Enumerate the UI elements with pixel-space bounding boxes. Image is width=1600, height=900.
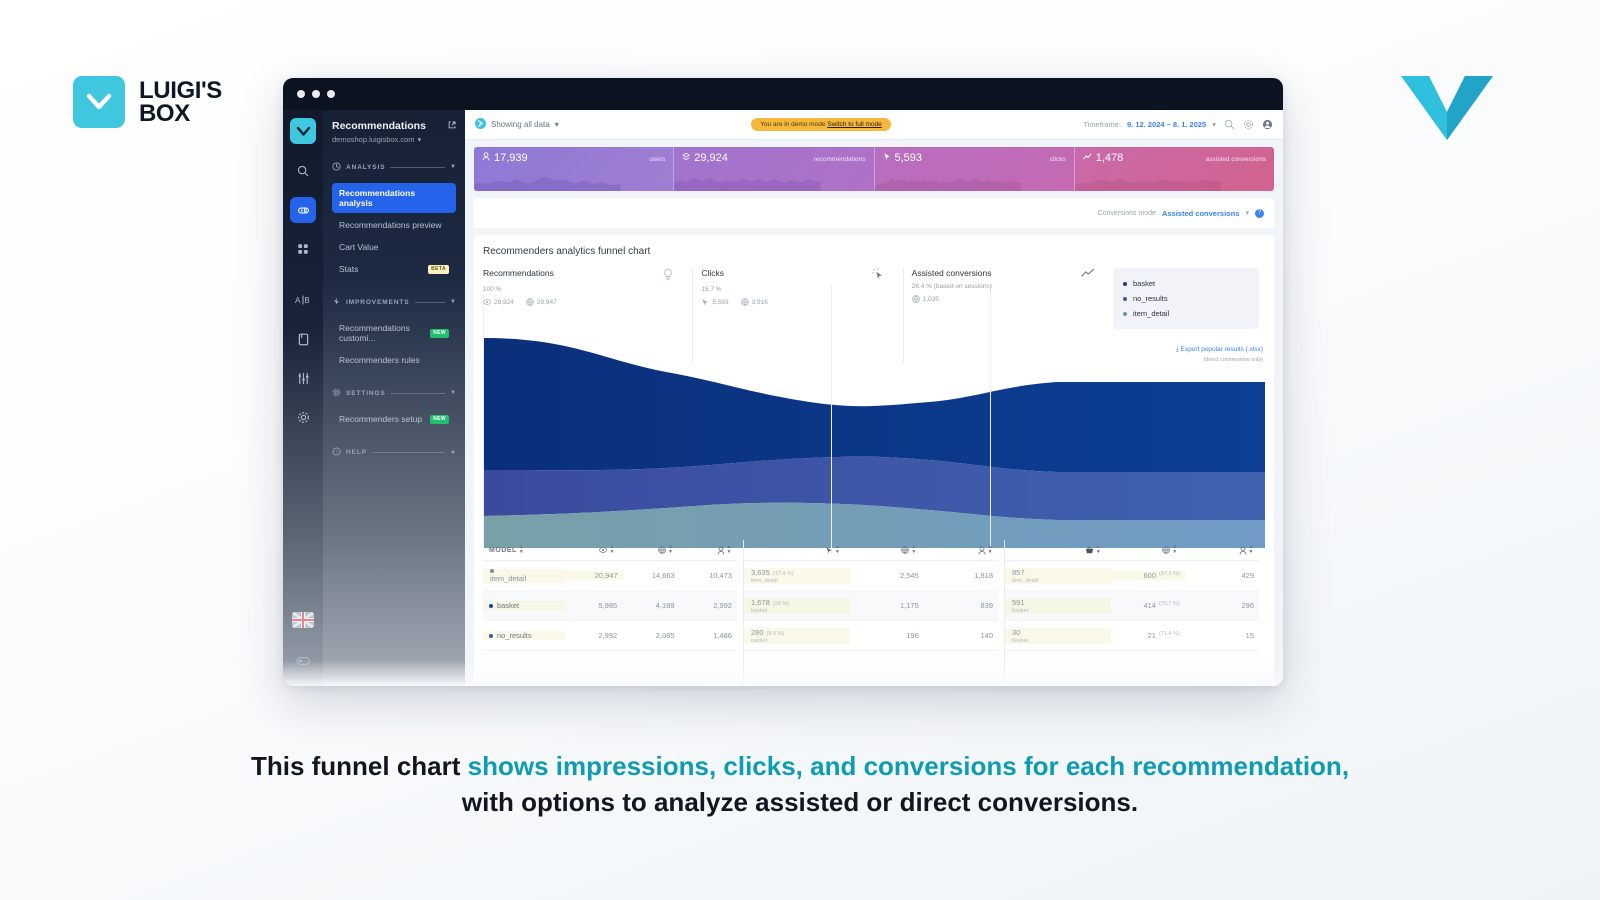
cell-sessions: 1,175 — [850, 601, 924, 610]
clicks-value: 3,635 — [751, 568, 770, 577]
sessions-percent: (70.7 %) — [1159, 601, 1180, 610]
export-label: Export popular results (.xlsx) — [1181, 346, 1263, 353]
table-header-row: MODEL ▲▼ ▲▼ ▲▼ — [483, 540, 737, 561]
main-content: Showing all data ▾ You are in demo mode … — [465, 110, 1283, 686]
legend-item-item-detail[interactable]: item_detail — [1123, 306, 1249, 321]
stage-stat-sessions: 3,916 — [741, 298, 768, 306]
switch-to-full-mode-link[interactable]: Switch to full mode — [827, 121, 882, 128]
table-row[interactable]: 30 basket 21(71.4 %) 15 — [1005, 621, 1259, 651]
sidebar-item-stats[interactable]: Stats BETA — [332, 259, 456, 279]
chevron-up-icon: ▲ — [450, 449, 456, 455]
ab-testing-icon[interactable]: AB — [290, 287, 316, 313]
sidebar-item-recommendations-analysis[interactable]: Recommendations analysis — [332, 183, 456, 213]
data-source-icon — [475, 118, 486, 131]
model-name: basket — [751, 638, 767, 644]
sparkline — [474, 169, 621, 191]
table-row[interactable]: item_detail 20,947 14,663 10,473 — [483, 561, 737, 591]
column-header-users[interactable]: ▲▼ — [1183, 545, 1259, 555]
user-icon — [717, 546, 725, 555]
gear-icon[interactable] — [1243, 119, 1254, 130]
status-badge: BETA — [428, 265, 449, 274]
status-badge: NEW — [430, 329, 449, 338]
rail-logo-icon[interactable] — [290, 118, 316, 144]
cell-sessions: 4,189 — [622, 601, 679, 610]
model-name: item_detail — [490, 574, 526, 583]
cursor-icon — [701, 298, 709, 306]
table-row[interactable]: 1,678(28 %) basket 1,175 839 — [744, 591, 998, 621]
kpi-assisted-conversions[interactable]: 1,478 assisted conversions — [1075, 147, 1274, 191]
stage-stat-sessions: 20,947 — [526, 298, 557, 306]
model-color-dot — [490, 569, 494, 573]
window-titlebar — [283, 78, 1283, 110]
menu-domain[interactable]: demoshop.luigisbox.com ▾ — [332, 135, 456, 144]
cell-users: 296 — [1185, 601, 1259, 610]
conversions-value: 30 — [1012, 628, 1020, 637]
showing-all-data-selector[interactable]: Showing all data ▾ — [475, 118, 559, 131]
stage-percent: 100 % — [483, 286, 674, 293]
cell-impressions: 2,992 — [565, 631, 622, 640]
question-icon[interactable]: ? — [1255, 209, 1264, 218]
chevron-down-icon: ▼ — [450, 390, 456, 396]
model-name: basket — [751, 608, 767, 614]
table-header-row: ▲▼ ▲▼ ▲▼ — [744, 540, 998, 561]
conversions-value: 857 — [1012, 568, 1025, 577]
decorative-chevron-icon — [1399, 72, 1495, 149]
sidebar-item-label: Recommenders rules — [339, 355, 420, 365]
cell-conversions: 30 basket — [1005, 628, 1111, 644]
kpi-label: clicks — [1050, 156, 1066, 163]
kpi-clicks[interactable]: 5,593 clicks — [875, 147, 1075, 191]
showing-all-data-label: Showing all data — [491, 120, 550, 129]
clock-icon — [332, 158, 341, 176]
table-row[interactable]: basket 5,985 4,189 2,992 — [483, 591, 737, 621]
funnel-stage-recommendations: Recommendations 100 % 29,924 — [483, 268, 693, 363]
export-note: (direct conversions only) — [1113, 357, 1263, 363]
cell-conversions: 857 item_detail — [1005, 568, 1111, 584]
window-maximize-dot[interactable] — [327, 90, 335, 98]
kpi-value: 5,593 — [895, 152, 923, 164]
model-name: no_results — [497, 631, 532, 640]
spark-icon — [332, 293, 341, 311]
sort-icon: ▲▼ — [727, 545, 732, 555]
model-color-dot — [489, 604, 493, 608]
legend-item-basket[interactable]: basket — [1123, 276, 1249, 291]
svg-text:B: B — [304, 296, 309, 305]
sidebar-item-recommendations-customization[interactable]: Recommendations customi... NEW — [332, 318, 456, 348]
chevron-down-icon: ▾ — [1212, 120, 1216, 129]
page-root: LUIGI'S BOX — [0, 0, 1600, 900]
kpi-label: users — [649, 156, 665, 163]
cell-model: item_detail — [483, 569, 565, 583]
timeframe-label: Timeframe: — [1083, 120, 1121, 129]
user-icon — [1239, 546, 1247, 555]
sort-icon: ▲▼ — [988, 545, 993, 555]
luigis-box-chevron-icon — [73, 76, 125, 128]
menu-group-settings[interactable]: SETTINGS ▼ — [332, 384, 456, 402]
stat-value: 29,924 — [494, 299, 514, 306]
column-header-sessions[interactable]: ▲▼ — [845, 545, 921, 555]
export-popular-results-link[interactable]: ⤓ Export popular results (.xlsx) — [1176, 346, 1263, 353]
cell-model: basket — [483, 601, 565, 610]
funnel-stage-headers: Recommendations 100 % 29,924 — [474, 268, 1274, 363]
sidebar-item-recommenders-setup[interactable]: Recommenders setup NEW — [332, 409, 456, 429]
legend-swatch — [1123, 312, 1127, 316]
sparkline — [875, 169, 1022, 191]
column-header-users[interactable]: ▲▼ — [678, 545, 737, 555]
cell-users: 429 — [1185, 571, 1259, 580]
timeframe-value: 9. 12. 2024 – 8. 1. 2025 — [1127, 120, 1206, 129]
funnel-stage-clicks: Clicks 18.7 % 5,593 — [693, 268, 903, 363]
account-icon[interactable] — [1262, 119, 1273, 130]
sort-icon: ▲▼ — [519, 545, 524, 555]
conversions-mode-value[interactable]: Assisted conversions — [1162, 209, 1240, 218]
kpi-users[interactable]: 17,939 users — [474, 147, 674, 191]
column-header-sessions[interactable]: ▲▼ — [1106, 545, 1182, 555]
funnel-stage-assisted-conversions: Assisted conversions 26.4 % (based on se… — [904, 268, 1113, 363]
stage-stat-sessions: 1,035 — [912, 295, 939, 303]
gear-icon — [332, 384, 341, 402]
chart-legend: basket no_results item_detail — [1113, 268, 1259, 329]
cell-users: 10,473 — [680, 571, 737, 580]
basket-icon — [1085, 546, 1094, 554]
clicks-percent: (9.4 %) — [767, 631, 785, 637]
conversions-mode-label: Conversions mode — [1098, 210, 1156, 217]
brand-line-1: LUIGI'S — [139, 79, 222, 102]
download-icon: ⤓ — [1176, 346, 1179, 353]
svg-text:A: A — [295, 296, 301, 305]
model-name: item_detail — [1012, 578, 1039, 584]
caption: This funnel chart shows impressions, cli… — [0, 748, 1600, 820]
user-icon — [482, 152, 490, 164]
cell-sessions: 196 — [850, 631, 924, 640]
legend-item-no-results[interactable]: no_results — [1123, 291, 1249, 306]
cell-impressions: 5,985 — [565, 601, 622, 610]
column-header-clicks[interactable]: ▲▼ — [744, 545, 845, 555]
window-minimize-dot[interactable] — [312, 90, 320, 98]
cursor-icon — [883, 152, 891, 164]
legend-swatch — [1123, 297, 1127, 301]
conversions-mode-bar: Conversions mode Assisted conversions ▾ … — [474, 198, 1274, 228]
legend-label: no_results — [1133, 294, 1168, 303]
conversions-value: 591 — [1012, 598, 1025, 607]
sidebar-item-recommendations-preview[interactable]: Recommendations preview — [332, 215, 456, 235]
table-row[interactable]: 3,635(17.4 %) item_detail 2,545 1,818 — [744, 561, 998, 591]
stage-name: Recommendations — [483, 268, 554, 278]
globe-icon — [526, 298, 534, 306]
demo-mode-banner[interactable]: You are in demo mode Switch to full mode — [751, 118, 891, 131]
browser-window: AB — [283, 78, 1283, 686]
trend-icon — [1083, 152, 1092, 164]
funnel-chart-card: Recommenders analytics funnel chart Reco… — [474, 235, 1274, 686]
divider — [372, 452, 445, 453]
sidebar-item-label: Recommenders setup — [339, 414, 422, 424]
sort-icon: ▲▼ — [911, 545, 916, 555]
cell-users: 839 — [924, 601, 998, 610]
sort-icon: ▲▼ — [1096, 545, 1101, 555]
chevron-down-icon: ▼ — [450, 299, 456, 305]
table-row[interactable]: 280(9.4 %) basket 196 140 — [744, 621, 998, 651]
cell-users: 140 — [924, 631, 998, 640]
cell-clicks: 3,635(17.4 %) item_detail — [744, 568, 850, 584]
sidebar-item-label: Recommendations analysis — [339, 188, 449, 208]
menu-domain-text: demoshop.luigisbox.com — [332, 135, 415, 144]
model-name: item_detail — [751, 578, 778, 584]
sessions-percent: (71.4 %) — [1159, 631, 1180, 640]
cell-sessions: 2,545 — [850, 571, 924, 580]
menu-title-text: Recommendations — [332, 120, 426, 132]
globe-icon — [901, 546, 909, 554]
kpi-label: recommendations — [814, 156, 866, 163]
menu-group-label: IMPROVEMENTS — [346, 299, 410, 306]
cell-sessions: 21(71.4 %) — [1111, 631, 1185, 640]
kpi-label: assisted conversions — [1206, 156, 1266, 163]
page-title: Recommenders analytics funnel chart — [474, 235, 1274, 257]
recommendations-icon[interactable] — [290, 197, 316, 223]
sliders-icon[interactable] — [290, 365, 316, 391]
brand-logo: LUIGI'S BOX — [73, 76, 222, 128]
cell-model: no_results — [483, 631, 565, 640]
globe-icon — [1162, 546, 1170, 554]
sessions-value: 21 — [1148, 631, 1156, 640]
caption-lead: This funnel chart — [251, 751, 468, 781]
demo-mode-text: You are in demo mode — [760, 121, 827, 128]
side-menu: Recommendations demoshop.luigisbox.com ▾… — [323, 110, 465, 686]
cell-users: 15 — [1185, 631, 1259, 640]
menu-group-analysis[interactable]: ANALYSIS ▼ — [332, 158, 456, 176]
kpi-value: 29,924 — [694, 152, 728, 164]
kpi-recommendations[interactable]: 29,924 recommendations — [674, 147, 874, 191]
sort-icon: ▲▼ — [1249, 545, 1254, 555]
sort-icon: ▲▼ — [1172, 545, 1177, 555]
sidebar-item-recommenders-rules[interactable]: Recommenders rules — [332, 350, 456, 370]
lightbulb-icon — [662, 268, 674, 283]
kpi-value: 17,939 — [494, 152, 528, 164]
user-icon — [978, 546, 986, 555]
brand-line-2: BOX — [139, 102, 222, 125]
cell-sessions: 14,663 — [623, 571, 680, 580]
export-block: ⤓ Export popular results (.xlsx) (direct… — [1113, 338, 1265, 363]
stat-value: 1,035 — [923, 296, 939, 303]
legend-swatch — [1123, 282, 1127, 286]
trend-icon — [1081, 268, 1095, 280]
sparkline — [674, 169, 821, 191]
clicks-percent: (17.4 %) — [773, 571, 794, 577]
stage-percent: 26.4 % (based on sessions) — [912, 283, 1095, 290]
clicks-value: 280 — [751, 628, 764, 637]
model-color-dot — [489, 634, 493, 638]
clicks-value: 1,678 — [751, 598, 770, 607]
stat-value: 3,916 — [752, 299, 768, 306]
chevron-down-icon: ▾ — [555, 120, 559, 129]
kpi-strip: 17,939 users 29,924 recommendations — [474, 147, 1274, 191]
globe-icon — [912, 295, 920, 303]
divider — [415, 302, 446, 303]
external-link-icon[interactable] — [448, 120, 456, 132]
stage-name: Assisted conversions — [912, 268, 992, 278]
cursor-icon — [825, 546, 833, 554]
model-name: basket — [1012, 638, 1028, 644]
chevron-down-icon[interactable]: ▾ — [1245, 209, 1249, 217]
sessions-percent: (47.3 %) — [1159, 571, 1180, 580]
table-row[interactable]: 857 item_detail 600(47.3 %) 429 — [1005, 561, 1259, 591]
click-cursor-icon — [872, 268, 885, 283]
caption-tail: with options to analyze assisted or dire… — [0, 784, 1600, 820]
cell-conversions: 591 basket — [1005, 598, 1111, 614]
catalog-icon[interactable] — [290, 326, 316, 352]
column-header-label: MODEL — [489, 547, 517, 554]
svg-text:?: ? — [335, 449, 338, 455]
chevron-down-icon: ▾ — [418, 135, 422, 144]
brand-text: LUIGI'S BOX — [139, 79, 222, 125]
cell-sessions: 414(70.7 %) — [1111, 601, 1185, 610]
help-icon: ? — [332, 443, 341, 461]
stage-stat-clicks: 5,593 — [701, 298, 728, 306]
sessions-value: 600 — [1143, 571, 1156, 580]
cell-users: 1,818 — [924, 571, 998, 580]
gear-icon[interactable] — [290, 404, 316, 430]
stage-stat-impressions: 29,924 — [483, 299, 514, 306]
grid-icon[interactable] — [290, 236, 316, 262]
eye-icon — [599, 547, 607, 553]
column-header-conversions[interactable]: ▲▼ — [1005, 545, 1106, 555]
column-header-users[interactable]: ▲▼ — [922, 545, 998, 555]
cell-clicks: 1,678(28 %) basket — [744, 598, 850, 614]
chevron-down-icon: ▼ — [450, 164, 456, 170]
stage-name: Clicks — [701, 268, 724, 278]
column-header-impressions[interactable]: ▲▼ — [561, 545, 620, 555]
app-topbar: Showing all data ▾ You are in demo mode … — [465, 110, 1283, 140]
uk-flag-icon[interactable] — [292, 612, 314, 628]
cell-users: 1,486 — [680, 631, 737, 640]
bottom-fade — [283, 660, 1283, 686]
globe-icon — [658, 546, 666, 554]
stage-percent: 18.7 % — [701, 286, 884, 293]
sidebar-item-cart-value[interactable]: Cart Value — [332, 237, 456, 257]
sidebar-item-label: Recommendations preview — [339, 220, 442, 230]
icon-rail: AB — [283, 110, 323, 686]
cell-sessions: 2,085 — [622, 631, 679, 640]
sidebar-item-label: Cart Value — [339, 242, 379, 252]
table-header-row: ▲▼ ▲▼ ▲▼ — [1005, 540, 1259, 561]
sparkline — [1075, 169, 1222, 191]
sidebar-item-label: Stats — [339, 264, 358, 274]
divider — [391, 393, 445, 394]
table-row[interactable]: 591 basket 414(70.7 %) 296 — [1005, 591, 1259, 621]
window-close-dot[interactable] — [297, 90, 305, 98]
status-badge: NEW — [430, 415, 449, 424]
divider — [390, 167, 445, 168]
menu-group-label: SETTINGS — [346, 390, 386, 397]
timeframe-control[interactable]: Timeframe: 9. 12. 2024 – 8. 1. 2025 ▾ — [1083, 120, 1216, 129]
sort-icon: ▲▼ — [835, 545, 840, 555]
search-icon[interactable] — [290, 158, 316, 184]
sessions-value: 414 — [1143, 601, 1156, 610]
menu-group-label: ANALYSIS — [346, 164, 385, 171]
cell-impressions: 20,947 — [565, 571, 622, 580]
sort-icon: ▲▼ — [668, 545, 673, 555]
table-row[interactable]: no_results 2,992 2,085 1,486 — [483, 621, 737, 651]
sort-icon: ▲▼ — [609, 545, 614, 555]
cell-clicks: 280(9.4 %) basket — [744, 628, 850, 644]
stat-value: 20,947 — [537, 299, 557, 306]
menu-group-label: HELP — [346, 449, 367, 456]
menu-group-improvements[interactable]: IMPROVEMENTS ▼ — [332, 293, 456, 311]
layers-icon — [682, 152, 690, 164]
clicks-percent: (28 %) — [773, 601, 789, 607]
stat-value: 5,593 — [712, 299, 728, 306]
sidebar-item-label: Recommendations customi... — [339, 323, 430, 343]
cell-users: 2,992 — [680, 601, 737, 610]
kpi-value: 1,478 — [1096, 152, 1124, 164]
menu-group-help[interactable]: ? HELP ▲ — [332, 443, 456, 461]
column-header-model[interactable]: MODEL ▲▼ — [483, 545, 561, 555]
model-name: basket — [497, 601, 519, 610]
eye-icon — [483, 299, 491, 305]
model-name: basket — [1012, 608, 1028, 614]
globe-icon — [741, 298, 749, 306]
menu-title: Recommendations — [332, 120, 456, 132]
cell-sessions: 600(47.3 %) — [1111, 571, 1185, 580]
search-icon[interactable] — [1224, 119, 1235, 130]
caption-highlight: shows impressions, clicks, and conversio… — [468, 751, 1349, 781]
legend-label: basket — [1133, 279, 1155, 288]
column-header-sessions[interactable]: ▲▼ — [620, 545, 679, 555]
legend-label: item_detail — [1133, 309, 1169, 318]
